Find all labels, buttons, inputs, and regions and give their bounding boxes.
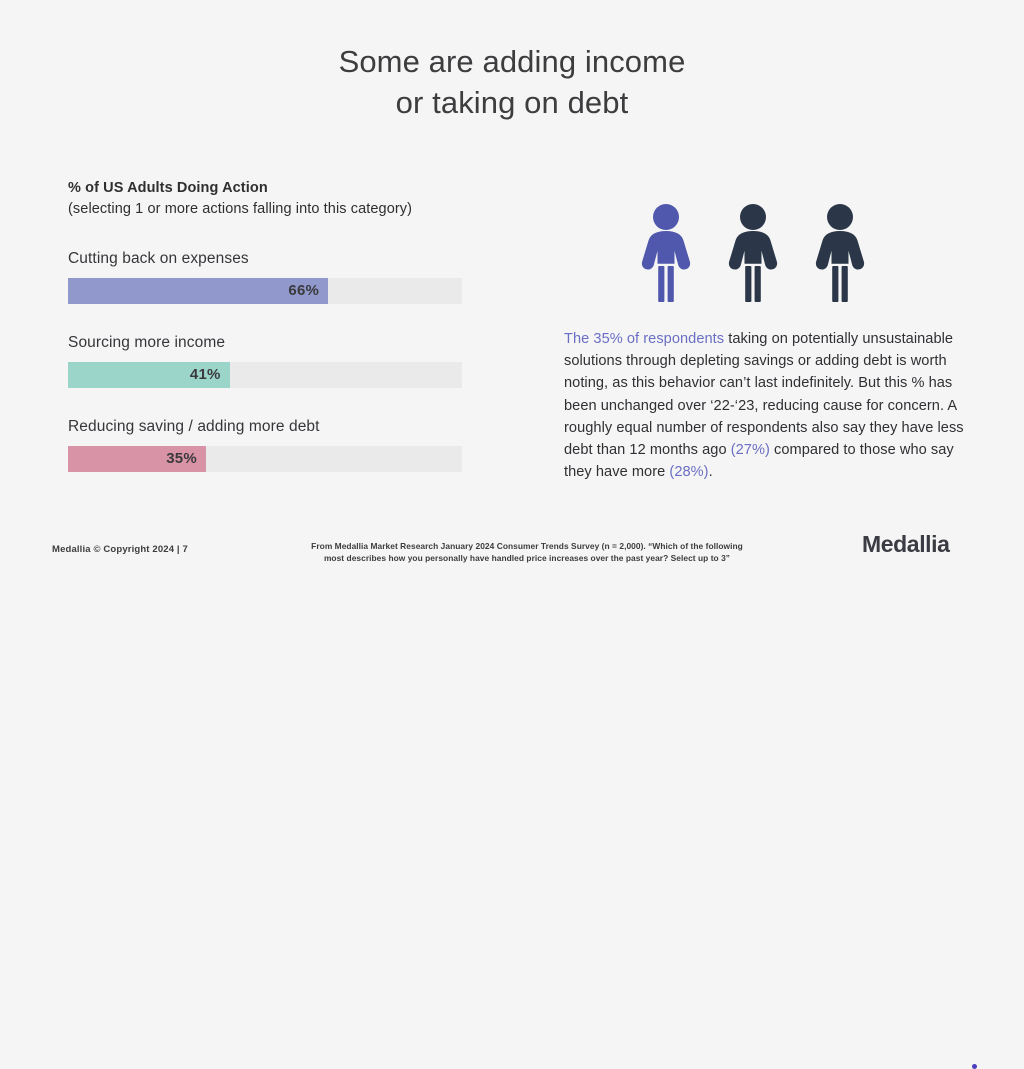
medallia-logo-text: Medallia (862, 533, 1002, 556)
page-title-line-1: Some are adding income (339, 44, 686, 79)
callout-body-1: taking on potentially unsustainable solu… (564, 331, 964, 458)
chart-title: % of US Adults Doing Action (68, 178, 468, 199)
people-pictogram-group (636, 192, 886, 304)
bar-row: Reducing saving / adding more debt 35% (68, 417, 468, 472)
bar-track: 66% (68, 278, 462, 304)
person-pictogram-icon (810, 204, 870, 304)
callout-paragraph: The 35% of respondents taking on potenti… (564, 328, 972, 483)
medallia-logo-dot (972, 1064, 977, 1069)
callout-highlight-27: (27%) (731, 442, 770, 458)
person-pictogram-highlighted-icon (636, 204, 696, 304)
bar-track: 35% (68, 446, 462, 472)
bar-value-label: 66% (288, 278, 319, 304)
bar-label: Cutting back on expenses (68, 249, 468, 269)
person-pictogram-icon (723, 204, 783, 304)
bar-row: Cutting back on expenses 66% (68, 249, 468, 304)
bar-fill: 66% (68, 278, 328, 304)
page-title: Some are adding income or taking on debt (0, 42, 1024, 124)
bar-row: Sourcing more income 41% (68, 333, 468, 388)
bar-fill: 35% (68, 446, 206, 472)
bar-fill: 41% (68, 362, 230, 388)
callout-highlight-lead: The 35% of respondents (564, 331, 724, 347)
bar-value-label: 41% (190, 362, 221, 388)
callout-body-3: . (709, 464, 713, 480)
bar-value-label: 35% (166, 446, 197, 472)
bar-label: Reducing saving / adding more debt (68, 417, 468, 437)
callout-highlight-28: (28%) (669, 464, 708, 480)
footer-source-note: From Medallia Market Research January 20… (292, 540, 762, 564)
footer-source-line-2: most describes how you personally have h… (292, 552, 762, 564)
bar-chart: % of US Adults Doing Action (selecting 1… (68, 178, 468, 472)
page-title-line-2: or taking on debt (0, 83, 1024, 124)
footer-copyright: Medallia © Copyright 2024 | 7 (52, 544, 188, 555)
chart-subtitle: (selecting 1 or more actions falling int… (68, 199, 468, 220)
medallia-logo: Medallia (862, 533, 1002, 573)
footer-source-line-1: From Medallia Market Research January 20… (292, 540, 762, 552)
bar-track: 41% (68, 362, 462, 388)
bar-label: Sourcing more income (68, 333, 468, 353)
